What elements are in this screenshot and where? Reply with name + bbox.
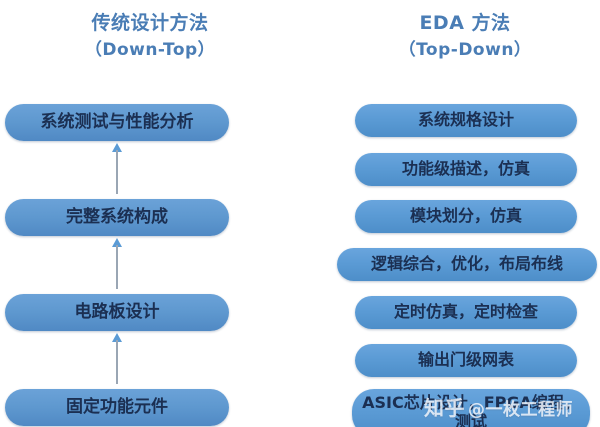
- right-step-label-5: 定时仿真，定时检查: [394, 303, 538, 322]
- diagram-canvas: 传统设计方法 （Down-Top） 系统测试与性能分析 完整系统构成 电路板设计…: [0, 0, 600, 427]
- left-step-box-3[interactable]: 电路板设计: [5, 294, 229, 331]
- left-step-label-1: 系统测试与性能分析: [41, 112, 194, 132]
- left-column-title-line2: （Down-Top）: [30, 38, 270, 63]
- left-connector-arrow-3: [110, 333, 124, 384]
- arrow-shaft: [116, 150, 118, 194]
- left-step-box-2[interactable]: 完整系统构成: [5, 199, 229, 236]
- right-step-box-6[interactable]: 输出门级网表: [355, 344, 577, 377]
- right-step-box-7[interactable]: ASIC芯片设计，FPGA编程，测试: [352, 389, 590, 427]
- right-step-label-3: 模块划分，仿真: [410, 207, 522, 226]
- left-step-label-3: 电路板设计: [75, 302, 160, 322]
- right-step-label-7: ASIC芯片设计，FPGA编程，测试: [362, 394, 580, 427]
- right-step-box-2[interactable]: 功能级描述，仿真: [355, 153, 577, 186]
- left-step-label-4: 固定功能元件: [66, 397, 168, 417]
- right-step-box-5[interactable]: 定时仿真，定时检查: [355, 296, 577, 329]
- right-step-label-4: 逻辑综合，优化，布局布线: [371, 255, 563, 274]
- left-step-box-4[interactable]: 固定功能元件: [5, 389, 229, 426]
- left-step-label-2: 完整系统构成: [66, 207, 168, 227]
- right-step-box-3[interactable]: 模块划分，仿真: [355, 200, 577, 233]
- right-step-label-2: 功能级描述，仿真: [402, 160, 530, 179]
- right-step-label-1: 系统规格设计: [418, 111, 514, 130]
- right-column-title-line2: （Top-Down）: [340, 38, 590, 63]
- left-connector-arrow-2: [110, 238, 124, 289]
- right-column-title: EDA 方法 （Top-Down）: [340, 10, 590, 62]
- left-step-box-1[interactable]: 系统测试与性能分析: [5, 104, 229, 141]
- right-step-box-1[interactable]: 系统规格设计: [355, 104, 577, 137]
- right-step-box-4[interactable]: 逻辑综合，优化，布局布线: [337, 248, 597, 281]
- arrow-shaft: [116, 245, 118, 289]
- left-connector-arrow-1: [110, 143, 124, 194]
- arrow-shaft: [116, 340, 118, 384]
- right-column-title-line1: EDA 方法: [340, 10, 590, 38]
- left-column-title: 传统设计方法 （Down-Top）: [30, 10, 270, 62]
- left-column-title-line1: 传统设计方法: [30, 10, 270, 38]
- right-step-label-6: 输出门级网表: [418, 351, 514, 370]
